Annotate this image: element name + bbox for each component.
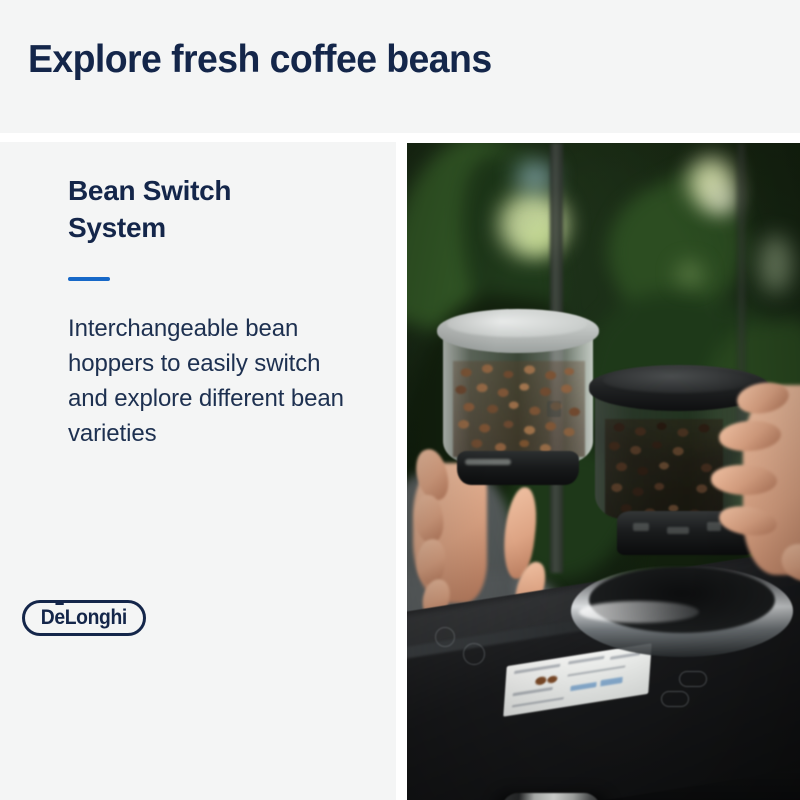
hopper-base-highlight <box>465 459 511 465</box>
menu-touch-icon[interactable] <box>679 671 707 687</box>
clear-bean-hopper <box>435 309 601 501</box>
logo-letter-e-macron: e <box>55 606 65 629</box>
product-photo <box>407 143 800 800</box>
page-title: Explore fresh coffee beans <box>28 36 492 84</box>
hopper-body <box>443 335 593 463</box>
cup-touch-icon[interactable] <box>463 643 485 665</box>
promo-card: Explore fresh coffee beans Bean Switch S… <box>0 0 800 800</box>
delonghi-logo: DeLonghi <box>22 600 146 636</box>
window-highlight-5 <box>759 235 793 293</box>
accent-rule <box>68 277 110 281</box>
hopper-brand-mark <box>547 401 561 417</box>
feature-description: Interchangeable bean hoppers to easily s… <box>68 311 348 451</box>
window-highlight-4 <box>707 187 737 213</box>
hopper-lid-top <box>447 311 587 337</box>
delonghi-logo-text: DeLonghi <box>41 607 127 628</box>
medium-roast-beans <box>453 361 585 457</box>
hopper-seat-highlight <box>579 601 699 623</box>
settings-touch-icon[interactable] <box>661 691 689 707</box>
window-highlight-7 <box>677 263 703 285</box>
right-hand <box>697 375 800 605</box>
logo-letter-d: D <box>41 606 55 629</box>
chrome-dispenser-spout <box>502 793 600 800</box>
hopper-base-ring <box>457 451 579 485</box>
logo-letters-longhi: Longhi <box>65 606 127 629</box>
header-band: Explore fresh coffee beans <box>0 0 800 133</box>
feature-heading: Bean Switch System <box>68 172 318 246</box>
power-touch-icon[interactable] <box>435 627 455 647</box>
window-highlight-2 <box>515 161 555 191</box>
